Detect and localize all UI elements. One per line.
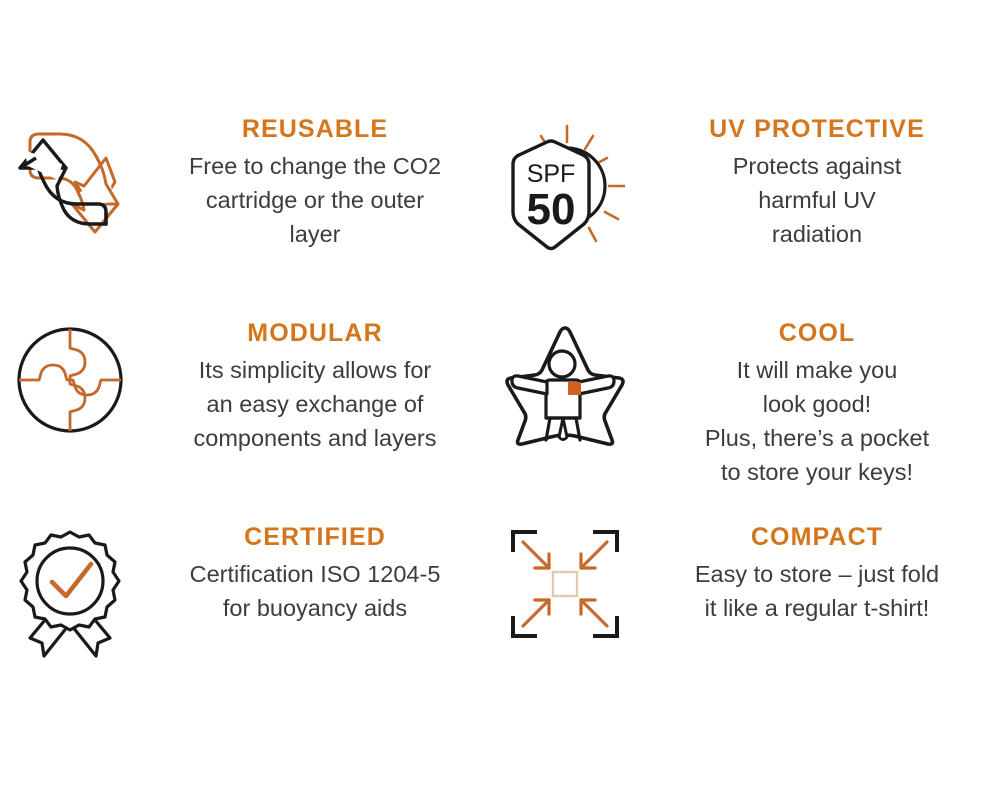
bottom-spacer [0,704,1000,800]
recycle-arrows-icon [0,116,140,238]
feature-description: Its simplicity allows for an easy exchan… [140,353,490,455]
feature-description: Free to change the CO2 cartridge or the … [140,149,490,251]
desc-line: look good! [634,387,1000,421]
feature-description: It will make you look good! Plus, there’… [634,353,1000,489]
feature-title: REUSABLE [140,116,490,142]
desc-line: components and layers [140,421,490,455]
feature-title: COOL [634,320,1000,346]
top-spacer [0,0,1000,116]
desc-line: cartridge or the outer [140,183,490,217]
feature-card-compact: COMPACT Easy to store – just fold it lik… [500,524,1000,704]
desc-line: to store your keys! [634,455,1000,489]
feature-text-uv-protective: UV PROTECTIVE Protects against harmful U… [630,116,1000,251]
shield-spf-label: SPF [527,160,576,188]
feature-text-certified: CERTIFIED Certification ISO 1204-5 for b… [140,524,500,625]
desc-line: Certification ISO 1204-5 [140,557,490,591]
puzzle-circle-icon [0,320,140,436]
feature-card-uv-protective: SPF 50 UV PROTECTIVE Protects against ha… [500,116,1000,320]
desc-line: radiation [634,217,1000,251]
collapse-arrows-icon [500,524,630,640]
feature-text-reusable: REUSABLE Free to change the CO2 cartridg… [140,116,500,251]
desc-line: it like a regular t-shirt! [634,591,1000,625]
desc-line: Plus, there’s a pocket [634,421,1000,455]
feature-title: CERTIFIED [140,524,490,550]
feature-description: Easy to store – just fold it like a regu… [634,557,1000,625]
feature-text-cool: COOL It will make you look good! Plus, t… [630,320,1000,490]
desc-line: Easy to store – just fold [634,557,1000,591]
desc-line: It will make you [634,353,1000,387]
feature-grid: REUSABLE Free to change the CO2 cartridg… [0,0,1000,800]
desc-line: layer [140,217,490,251]
desc-line: for buoyancy aids [140,591,490,625]
feature-title: COMPACT [634,524,1000,550]
desc-line: Protects against [634,149,1000,183]
spf-shield-sun-icon: SPF 50 [500,116,630,252]
feature-card-modular: MODULAR Its simplicity allows for an eas… [0,320,500,524]
feature-card-certified: CERTIFIED Certification ISO 1204-5 for b… [0,524,500,704]
desc-line: harmful UV [634,183,1000,217]
desc-line: Free to change the CO2 [140,149,490,183]
feature-card-reusable: REUSABLE Free to change the CO2 cartridg… [0,116,500,320]
award-rosette-check-icon [0,524,140,660]
feature-description: Certification ISO 1204-5 for buoyancy ai… [140,557,490,625]
feature-card-cool: COOL It will make you look good! Plus, t… [500,320,1000,524]
feature-text-modular: MODULAR Its simplicity allows for an eas… [140,320,500,455]
feature-description: Protects against harmful UV radiation [634,149,1000,251]
desc-line: an easy exchange of [140,387,490,421]
desc-line: Its simplicity allows for [140,353,490,387]
feature-title: MODULAR [140,320,490,346]
shield-spf-value: 50 [527,185,576,234]
feature-title: UV PROTECTIVE [634,116,1000,142]
feature-text-compact: COMPACT Easy to store – just fold it lik… [630,524,1000,625]
star-person-icon [500,320,630,446]
